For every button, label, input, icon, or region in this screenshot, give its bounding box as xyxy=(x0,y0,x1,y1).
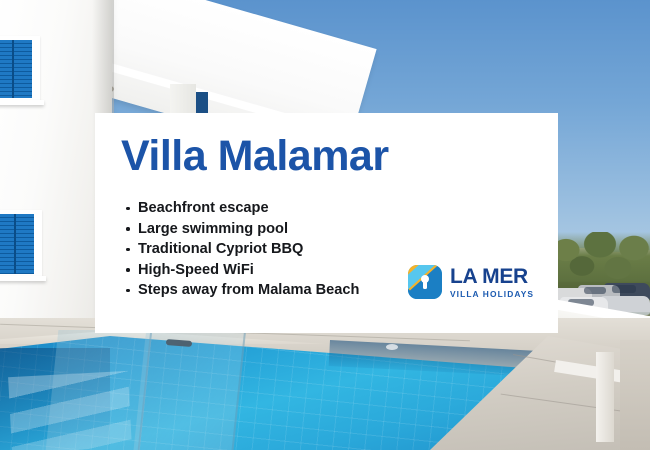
shutter-divider xyxy=(14,214,16,274)
keyhole-stem xyxy=(423,280,427,289)
shutter-divider xyxy=(12,40,14,98)
right-paving-edge xyxy=(620,340,650,450)
blue-shutter xyxy=(0,40,32,98)
window-sill xyxy=(0,100,44,105)
brand-logo-text: LA MER VILLA HOLIDAYS xyxy=(450,266,534,298)
car-window xyxy=(584,287,606,294)
info-card: Villa Malamar Beachfront escape Large sw… xyxy=(95,113,558,333)
promo-image: Villa Malamar Beachfront escape Large sw… xyxy=(0,0,650,450)
list-item: Large swimming pool xyxy=(125,219,532,240)
glass-fence-panel xyxy=(133,326,246,450)
list-item: Beachfront escape xyxy=(125,198,532,219)
padlock-keyhole-icon xyxy=(408,265,442,299)
wall-post xyxy=(596,352,614,442)
car-window xyxy=(612,285,636,293)
pool-float xyxy=(386,344,398,350)
wall-column xyxy=(170,84,196,116)
window-sill xyxy=(0,276,46,281)
brand-tagline: VILLA HOLIDAYS xyxy=(450,290,534,298)
blue-shutter xyxy=(0,214,34,274)
brand-name: LA MER xyxy=(450,266,534,287)
brand-logo: LA MER VILLA HOLIDAYS xyxy=(408,265,534,299)
page-title: Villa Malamar xyxy=(121,135,532,178)
list-item: Traditional Cypriot BBQ xyxy=(125,239,532,260)
